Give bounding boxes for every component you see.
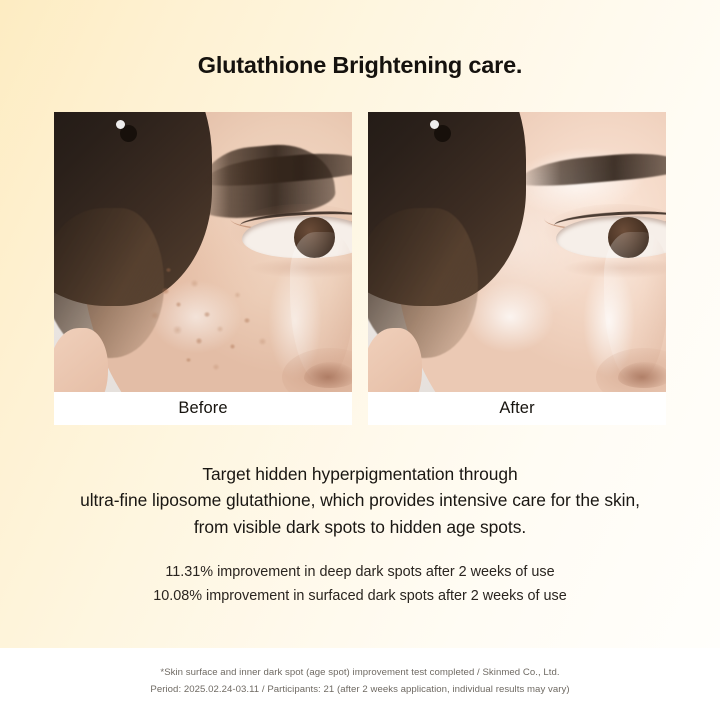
eye-glint bbox=[116, 120, 125, 129]
eye-glint bbox=[430, 120, 439, 129]
before-face-illustration bbox=[54, 112, 352, 392]
headline-line-3: from visible dark spots to hidden age sp… bbox=[0, 514, 720, 540]
dark-spot bbox=[234, 292, 241, 298]
nostril bbox=[304, 362, 352, 388]
before-after-comparison: Before bbox=[54, 112, 666, 425]
dark-spot bbox=[216, 326, 224, 332]
clinical-results: 11.31% improvement in deep dark spots af… bbox=[0, 560, 720, 608]
nostril bbox=[618, 362, 666, 388]
dark-spot bbox=[172, 326, 183, 334]
dark-spot bbox=[244, 318, 250, 323]
stat-surfaced-dark-spots: 10.08% improvement in surfaced dark spot… bbox=[0, 584, 720, 608]
ear bbox=[368, 328, 422, 392]
disclaimer-line-1: *Skin surface and inner dark spot (age s… bbox=[0, 664, 720, 681]
dark-spot bbox=[162, 288, 169, 294]
promo-page: Glutathione Brightening care. bbox=[0, 0, 720, 720]
dark-spot bbox=[230, 344, 235, 349]
page-title: Glutathione Brightening care. bbox=[0, 52, 720, 79]
before-panel: Before bbox=[54, 112, 352, 425]
headline-line-1: Target hidden hyperpigmentation through bbox=[0, 461, 720, 487]
stat-deep-dark-spots: 11.31% improvement in deep dark spots af… bbox=[0, 560, 720, 584]
dark-spot bbox=[190, 280, 199, 287]
disclaimer-line-2: Period: 2025.02.24-03.11 / Participants:… bbox=[0, 681, 720, 698]
dark-spot bbox=[176, 302, 181, 307]
before-photo bbox=[54, 112, 352, 392]
dark-spot bbox=[212, 364, 220, 370]
headline-copy: Target hidden hyperpigmentation through … bbox=[0, 461, 720, 540]
ear bbox=[54, 328, 108, 392]
after-photo bbox=[368, 112, 666, 392]
after-face-illustration bbox=[368, 112, 666, 392]
dark-spot bbox=[150, 312, 160, 319]
disclaimer: *Skin surface and inner dark spot (age s… bbox=[0, 664, 720, 698]
after-panel: After bbox=[368, 112, 666, 425]
dark-spot bbox=[204, 312, 210, 317]
dark-spot bbox=[258, 338, 267, 345]
dark-spot bbox=[166, 268, 171, 272]
dark-spot bbox=[196, 338, 202, 344]
before-caption: Before bbox=[54, 392, 352, 425]
dark-spot bbox=[186, 358, 191, 362]
headline-line-2: ultra-fine liposome glutathione, which p… bbox=[0, 487, 720, 513]
after-caption: After bbox=[368, 392, 666, 425]
